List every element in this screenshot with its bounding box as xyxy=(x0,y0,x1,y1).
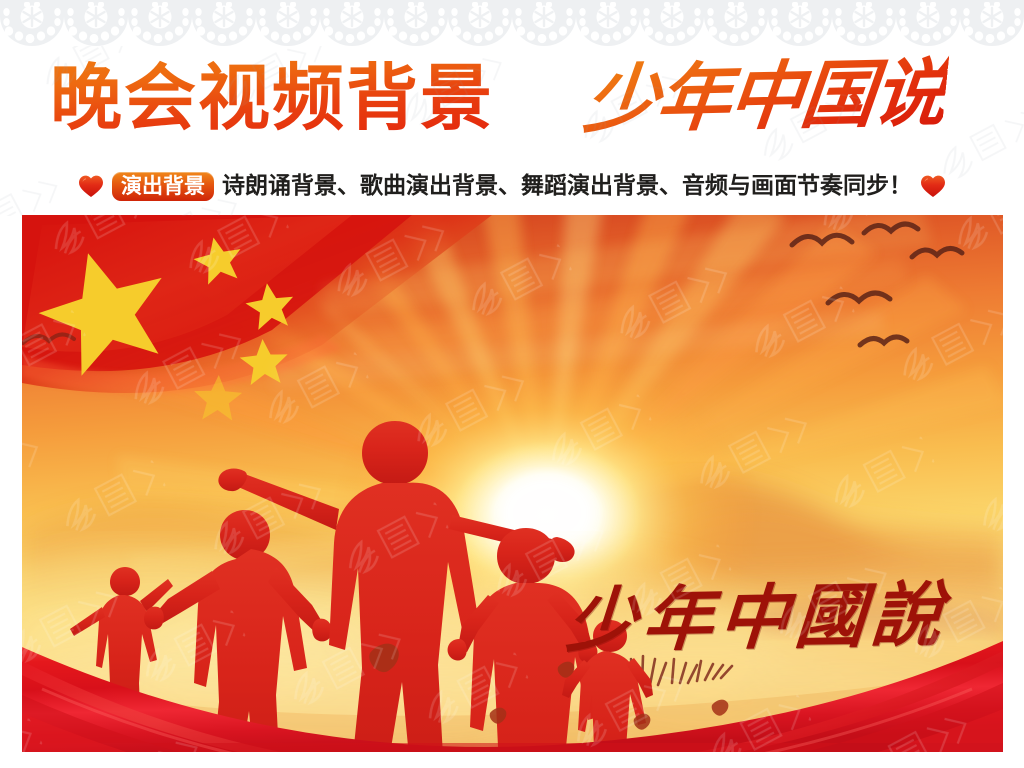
lace-border xyxy=(0,0,1024,46)
header-titles: 晚会视频背景 少年中国说 xyxy=(0,52,1024,152)
subtitle-bar: 演出背景 诗朗诵背景、歌曲演出背景、舞蹈演出背景、音频与画面节奏同步！ xyxy=(0,164,1024,208)
poster-artwork xyxy=(22,215,1003,752)
poster-page: 晚会视频背景 少年中国说 演出背景 诗朗诵背景、歌曲演出背景、舞蹈演出背景、音频… xyxy=(0,0,1024,768)
poster-image: 少年中國說 xyxy=(22,215,1003,752)
status-badge: 演出背景 xyxy=(112,172,214,201)
heart-icon xyxy=(78,174,104,198)
subtitle-description: 诗朗诵背景、歌曲演出背景、舞蹈演出背景、音频与画面节奏同步！ xyxy=(222,172,912,200)
page-subtitle-calligraphy: 少年中国说 xyxy=(580,44,951,150)
lace-border-icon xyxy=(0,0,1024,46)
page-title: 晚会视频背景 xyxy=(50,52,494,144)
poster-calligraphy-text: 少年中國說 xyxy=(564,574,950,663)
heart-icon xyxy=(920,174,946,198)
